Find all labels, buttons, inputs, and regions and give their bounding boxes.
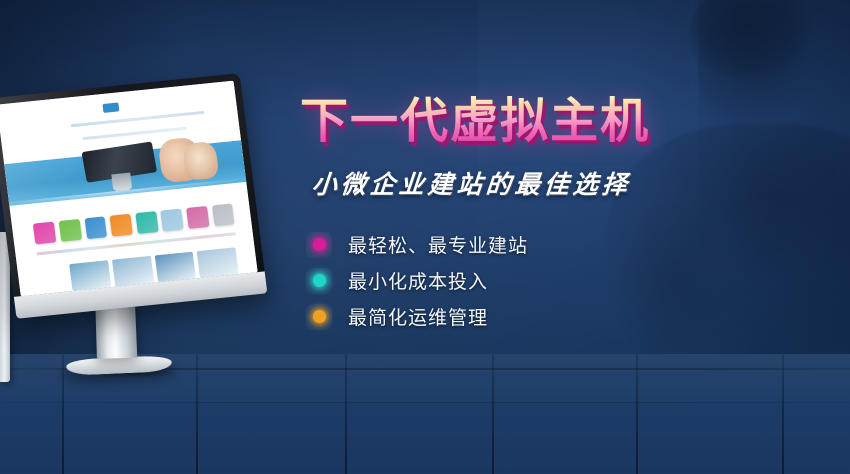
feature-list-item-label: 最小化成本投入 xyxy=(348,267,488,294)
website-thumbnail xyxy=(70,260,112,291)
feature-list-item-label: 最轻松、最专业建站 xyxy=(348,231,528,258)
bullet-dot-orange-icon xyxy=(306,304,332,330)
subheadline: 小微企业建站的最佳选择 xyxy=(310,165,721,201)
website-app-icon xyxy=(186,206,209,229)
feature-list-item: 最轻松、最专业建站 xyxy=(306,227,720,263)
monitor-bezel xyxy=(0,73,267,319)
bullet-dot xyxy=(313,310,326,323)
website-icon-row xyxy=(33,201,235,246)
banner-content: 下一代虚拟主机 小微企业建站的最佳选择 最轻松、最专业建站最小化成本投入最简化运… xyxy=(300,96,720,335)
floor-line-vertical-5 xyxy=(636,354,638,474)
desktop-monitor xyxy=(0,73,267,319)
feature-list-item: 最小化成本投入 xyxy=(306,263,720,299)
website-app-icon xyxy=(110,214,133,237)
bullet-dot-cyan-icon xyxy=(306,268,332,294)
website-thumbnail xyxy=(112,256,154,287)
website-thumbnail xyxy=(197,247,239,278)
feature-list-item: 最简化运维管理 xyxy=(306,299,720,335)
website-app-icon xyxy=(84,216,107,239)
feature-list-item-label: 最简化运维管理 xyxy=(348,303,488,330)
website-subnav-text xyxy=(82,126,187,140)
floor-line-horizontal-2 xyxy=(0,402,850,403)
bullet-dot-magenta-icon xyxy=(306,232,332,258)
banner-screenshot: 下一代虚拟主机 小微企业建站的最佳选择 最轻松、最专业建站最小化成本投入最简化运… xyxy=(0,0,850,474)
website-hero-product-stand xyxy=(111,173,132,192)
website-nav-text xyxy=(71,111,204,127)
website-app-icon xyxy=(33,221,56,244)
website-preview xyxy=(0,81,258,297)
floor-line-vertical-6 xyxy=(782,354,784,474)
website-logo xyxy=(102,102,119,113)
website-thumbnail xyxy=(154,252,196,283)
floor-line-vertical-3 xyxy=(345,354,347,474)
website-app-icon xyxy=(135,211,158,234)
monitor-screen xyxy=(0,81,258,297)
floor-line-vertical-4 xyxy=(492,354,494,474)
website-app-icon xyxy=(211,203,234,226)
bullet-dot xyxy=(313,238,326,251)
bullet-dot xyxy=(313,274,326,287)
website-app-icon xyxy=(59,219,82,242)
feature-list: 最轻松、最专业建站最小化成本投入最简化运维管理 xyxy=(306,227,720,335)
headline: 下一代虚拟主机 xyxy=(300,96,720,147)
website-app-icon xyxy=(161,208,184,231)
